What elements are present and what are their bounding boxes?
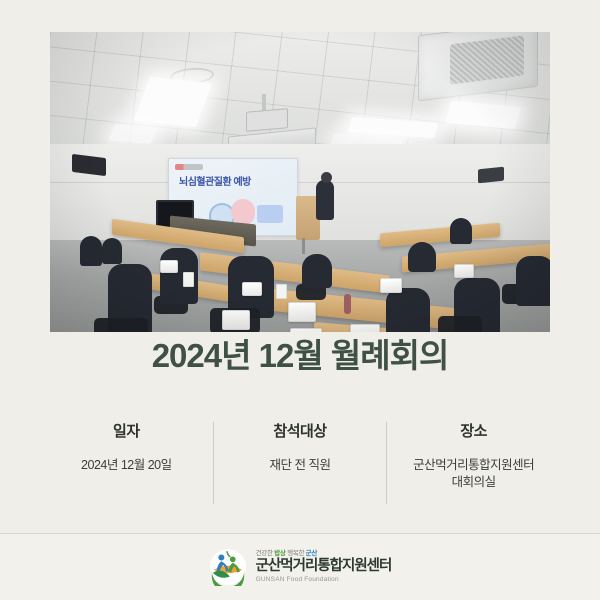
white-box bbox=[290, 328, 322, 332]
chair bbox=[94, 318, 148, 332]
attendee bbox=[102, 238, 122, 264]
logo-text-block: 건강한 밥상 행복한 군산 군산먹거리통합지원센터 GUNSAN Food Fo… bbox=[256, 551, 392, 584]
presenter-head bbox=[321, 172, 332, 183]
ceiling-light bbox=[109, 124, 157, 144]
info-value: 재단 전 직원 bbox=[220, 457, 381, 474]
info-label: 장소 bbox=[393, 420, 554, 441]
info-value: 2024년 12월 20일 bbox=[46, 457, 207, 474]
slide-logo bbox=[175, 164, 203, 170]
info-grid: 일자 2024년 12월 20일 참석대상 재단 전 직원 장소 군산먹거리통합… bbox=[40, 420, 560, 504]
logo-tagline-3: 행복한 bbox=[287, 550, 304, 557]
attendee bbox=[516, 256, 550, 306]
info-value: 군산먹거리통합지원센터 bbox=[393, 457, 554, 474]
announcement-card: 뇌심혈관질환 예방 bbox=[0, 0, 600, 600]
logo-tagline: 건강한 밥상 행복한 군산 bbox=[256, 551, 392, 558]
info-column-location: 장소 군산먹거리통합지원센터 대회의실 bbox=[387, 420, 560, 491]
info-column-attendees: 참석대상 재단 전 직원 bbox=[214, 420, 387, 474]
white-box bbox=[454, 264, 474, 278]
logo-english-name: GUNSAN Food Foundation bbox=[256, 577, 392, 584]
podium-leg bbox=[302, 238, 305, 254]
slide-graphic bbox=[231, 199, 255, 225]
slide-graphic bbox=[257, 205, 283, 223]
attendee bbox=[80, 236, 102, 266]
info-label: 일자 bbox=[46, 420, 207, 441]
white-box bbox=[222, 310, 250, 330]
slide-title: 뇌심혈관질환 예방 bbox=[179, 177, 251, 189]
chair bbox=[438, 316, 482, 332]
attendee bbox=[386, 288, 430, 332]
info-label: 참석대상 bbox=[220, 420, 381, 441]
white-box bbox=[350, 324, 380, 332]
projector-icon bbox=[246, 108, 288, 132]
logo-name: 군산먹거리통합지원센터 bbox=[256, 559, 392, 574]
info-column-date: 일자 2024년 12월 20일 bbox=[40, 420, 213, 474]
info-value-line2: 대회의실 bbox=[393, 474, 554, 491]
wall-trim bbox=[50, 182, 550, 183]
logo-tagline-2: 밥상 bbox=[274, 550, 285, 557]
logo-tagline-1: 건강한 bbox=[256, 550, 273, 557]
attendee bbox=[408, 242, 436, 272]
white-box bbox=[242, 282, 262, 296]
white-box bbox=[380, 278, 402, 293]
paper-cup bbox=[183, 272, 194, 287]
wall-speaker bbox=[478, 167, 504, 184]
page-title: 2024년 12월 월례회의 bbox=[0, 336, 600, 376]
white-box bbox=[288, 302, 316, 322]
footer: 건강한 밥상 행복한 군산 군산먹거리통합지원센터 GUNSAN Food Fo… bbox=[0, 534, 600, 600]
photo-scene: 뇌심혈관질환 예방 bbox=[50, 32, 550, 332]
water-bottle bbox=[344, 294, 351, 314]
meeting-photo: 뇌심혈관질환 예방 bbox=[50, 32, 550, 332]
attendee bbox=[450, 218, 472, 244]
paper-cup bbox=[276, 284, 287, 299]
organization-logo: 건강한 밥상 행복한 군산 군산먹거리통합지원센터 GUNSAN Food Fo… bbox=[209, 548, 392, 586]
attendee bbox=[302, 254, 332, 288]
logo-emblem-icon bbox=[209, 548, 247, 586]
logo-tagline-4: 군산 bbox=[306, 550, 317, 557]
white-box bbox=[160, 260, 178, 273]
presenter-person bbox=[316, 180, 334, 220]
